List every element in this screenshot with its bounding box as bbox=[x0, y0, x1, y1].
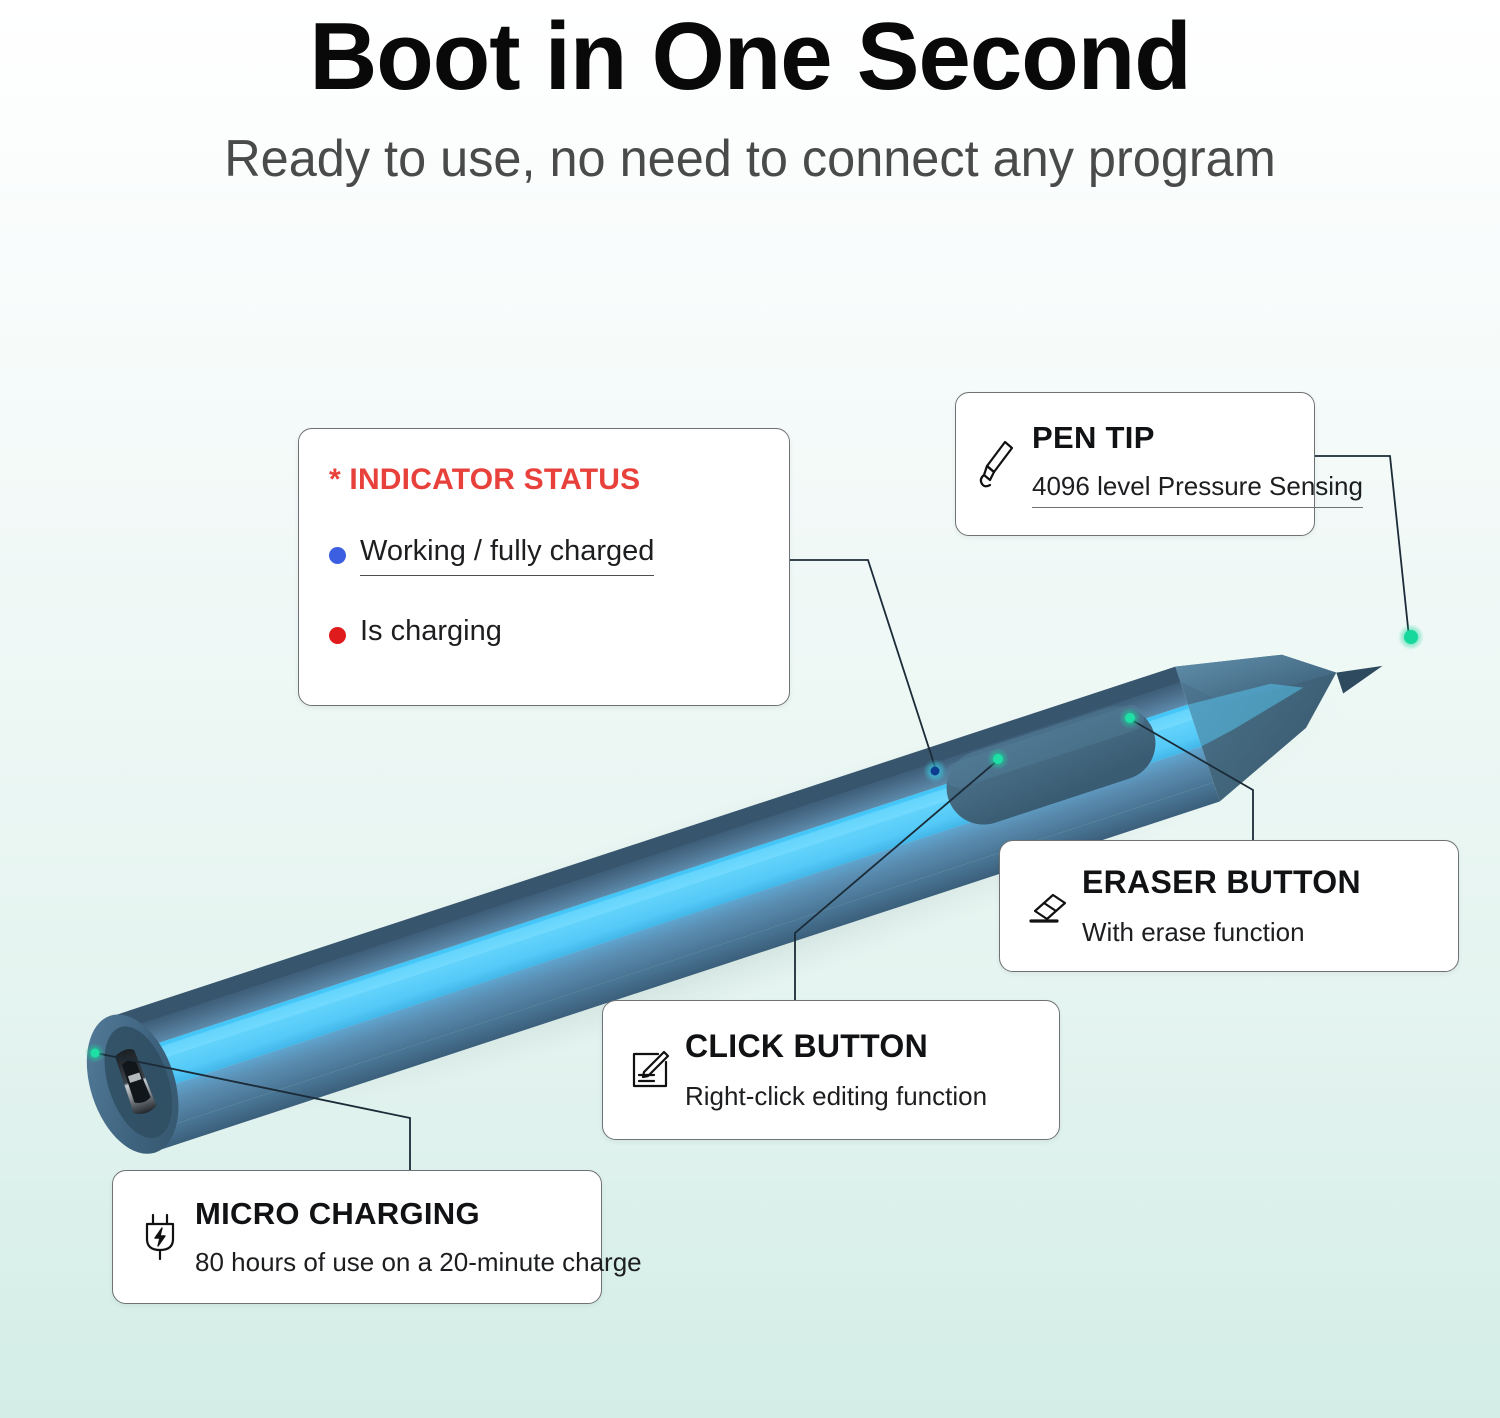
callout-subtitle: 4096 level Pressure Sensing bbox=[1032, 471, 1363, 508]
power-plug-icon bbox=[133, 1211, 187, 1263]
stylus-pen-icon bbox=[970, 436, 1024, 492]
callout-click-button[interactable]: CLICK BUTTON Right-click editing functio… bbox=[602, 1000, 1060, 1140]
callout-title: CLICK BUTTON bbox=[685, 1028, 1039, 1065]
callout-eraser-button[interactable]: ERASER BUTTON With erase function bbox=[999, 840, 1459, 972]
edit-note-icon bbox=[623, 1048, 677, 1092]
callout-micro-charging[interactable]: MICRO CHARGING 80 hours of use on a 20-m… bbox=[112, 1170, 602, 1304]
eraser-icon bbox=[1020, 885, 1074, 927]
infographic-canvas: Boot in One Second Ready to use, no need… bbox=[0, 0, 1500, 1418]
callout-title: PEN TIP bbox=[1032, 420, 1294, 456]
indicator-row-label: Is charging bbox=[360, 614, 502, 655]
callout-title: MICRO CHARGING bbox=[195, 1196, 581, 1232]
callout-title: ERASER BUTTON bbox=[1082, 864, 1438, 901]
indicator-row-label: Working / fully charged bbox=[360, 534, 654, 576]
indicator-row-charging: Is charging bbox=[329, 614, 759, 655]
callout-subtitle: Right-click editing function bbox=[685, 1081, 1039, 1112]
callout-indicator-status[interactable]: * INDICATOR STATUS Working / fully charg… bbox=[298, 428, 790, 706]
red-led-dot bbox=[329, 627, 346, 644]
blue-led-dot bbox=[329, 547, 346, 564]
callout-pen-tip[interactable]: PEN TIP 4096 level Pressure Sensing bbox=[955, 392, 1315, 536]
indicator-status-title: * INDICATOR STATUS bbox=[329, 463, 759, 496]
callout-subtitle: 80 hours of use on a 20-minute charge bbox=[195, 1247, 581, 1278]
callout-subtitle: With erase function bbox=[1082, 917, 1438, 948]
indicator-row-working: Working / fully charged bbox=[329, 534, 759, 576]
